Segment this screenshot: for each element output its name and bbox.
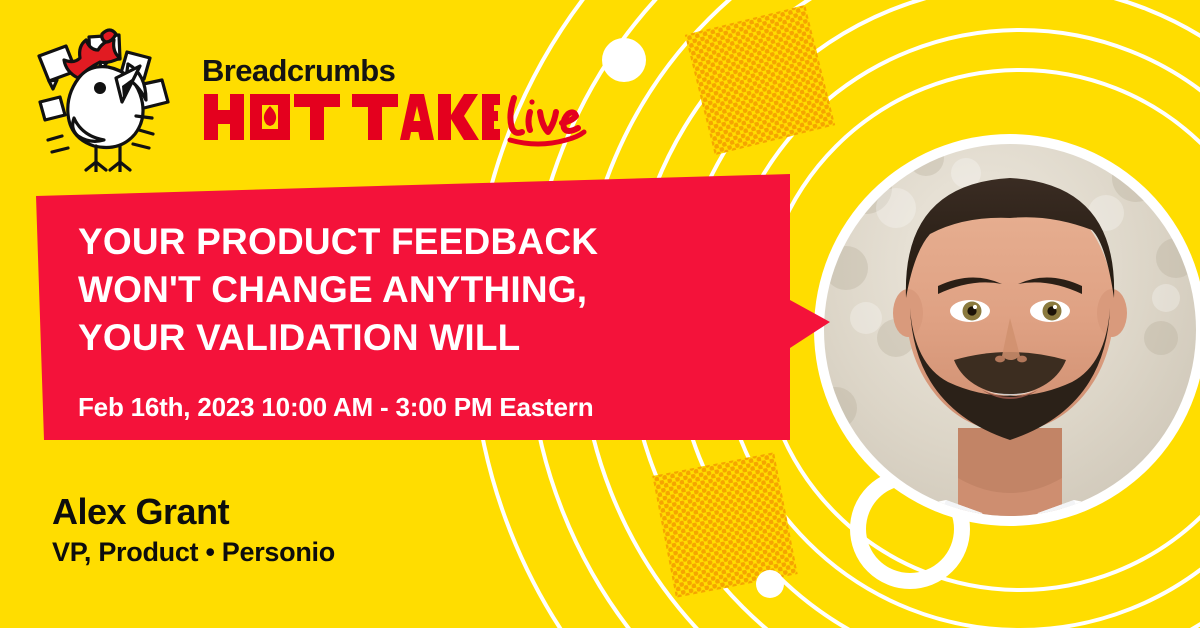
- headline-line-1: YOUR PRODUCT FEEDBACK: [78, 218, 738, 266]
- hot-takes-wordmark: [202, 88, 502, 146]
- live-script-wordmark: [504, 90, 596, 148]
- speaker-info: Alex Grant VP, Product • Personio: [52, 492, 335, 568]
- event-date: Feb 16th, 2023 10:00 AM - 3:00 PM Easter…: [78, 392, 738, 423]
- headline-line-3: YOUR VALIDATION WILL: [78, 314, 738, 362]
- logo-brand-text: Breadcrumbs: [202, 55, 596, 86]
- headline: YOUR PRODUCT FEEDBACK WON'T CHANGE ANYTH…: [78, 218, 738, 362]
- headline-line-2: WON'T CHANGE ANYTHING,: [78, 266, 738, 314]
- speaker-name: Alex Grant: [52, 492, 335, 532]
- speaker-role: VP, Product • Personio: [52, 538, 335, 568]
- logo-wordmark: Breadcrumbs: [202, 55, 596, 146]
- breadcrumbs-chicken-mascot-icon: [22, 22, 192, 172]
- webinar-promo-banner: YOUR PRODUCT FEEDBACK WON'T CHANGE ANYTH…: [0, 0, 1200, 628]
- brand-logo-lockup: Breadcrumbs: [22, 22, 596, 172]
